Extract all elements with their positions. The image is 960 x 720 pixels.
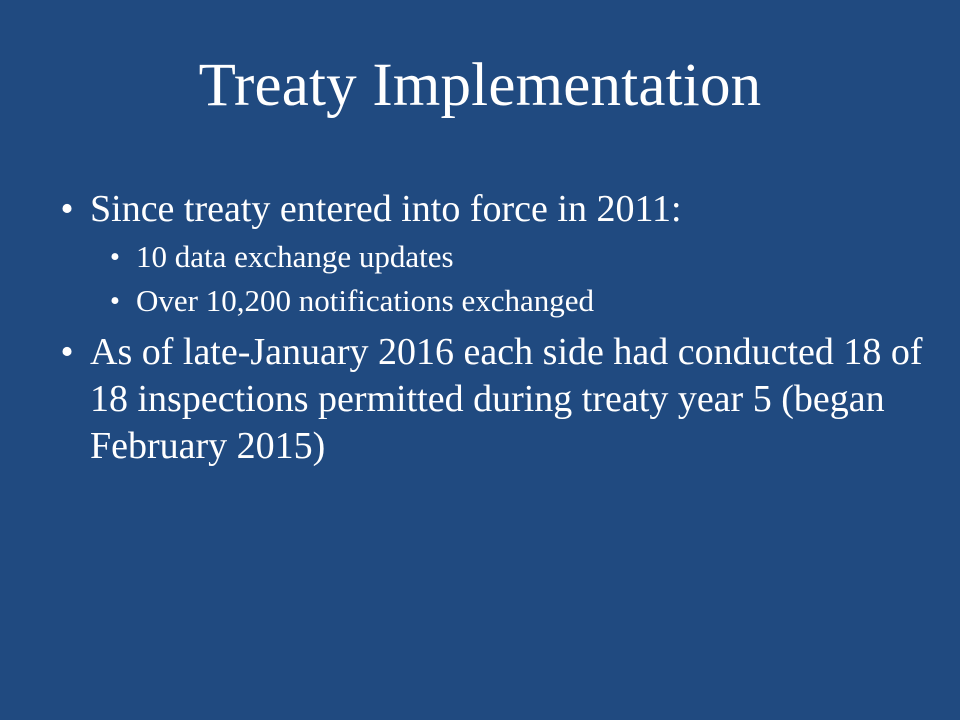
list-item: • 10 data exchange updates (98, 235, 928, 279)
list-item: • Since treaty entered into force in 201… (48, 186, 928, 233)
list-item-label: Over 10,200 notifications exchanged (136, 279, 928, 323)
list-item: • As of late-January 2016 each side had … (48, 329, 928, 470)
page-title: Treaty Implementation (0, 50, 960, 122)
slide: Treaty Implementation • Since treaty ent… (0, 0, 960, 720)
list-item: • Over 10,200 notifications exchanged (98, 279, 928, 323)
list-item-label: 10 data exchange updates (136, 235, 928, 279)
bullet-list-level-2: • 10 data exchange updates • Over 10,200… (98, 235, 928, 323)
bullet-icon: • (56, 186, 78, 233)
slide-body: • Since treaty entered into force in 201… (48, 186, 928, 472)
list-item-label: As of late-January 2016 each side had co… (90, 329, 928, 470)
sub-list-container: • 10 data exchange updates • Over 10,200… (98, 235, 928, 323)
bullet-list-level-1: • Since treaty entered into force in 201… (48, 186, 928, 470)
bullet-icon: • (56, 329, 78, 376)
list-item-label: Since treaty entered into force in 2011: (90, 186, 928, 233)
bullet-icon: • (106, 235, 124, 279)
bullet-icon: • (106, 279, 124, 323)
